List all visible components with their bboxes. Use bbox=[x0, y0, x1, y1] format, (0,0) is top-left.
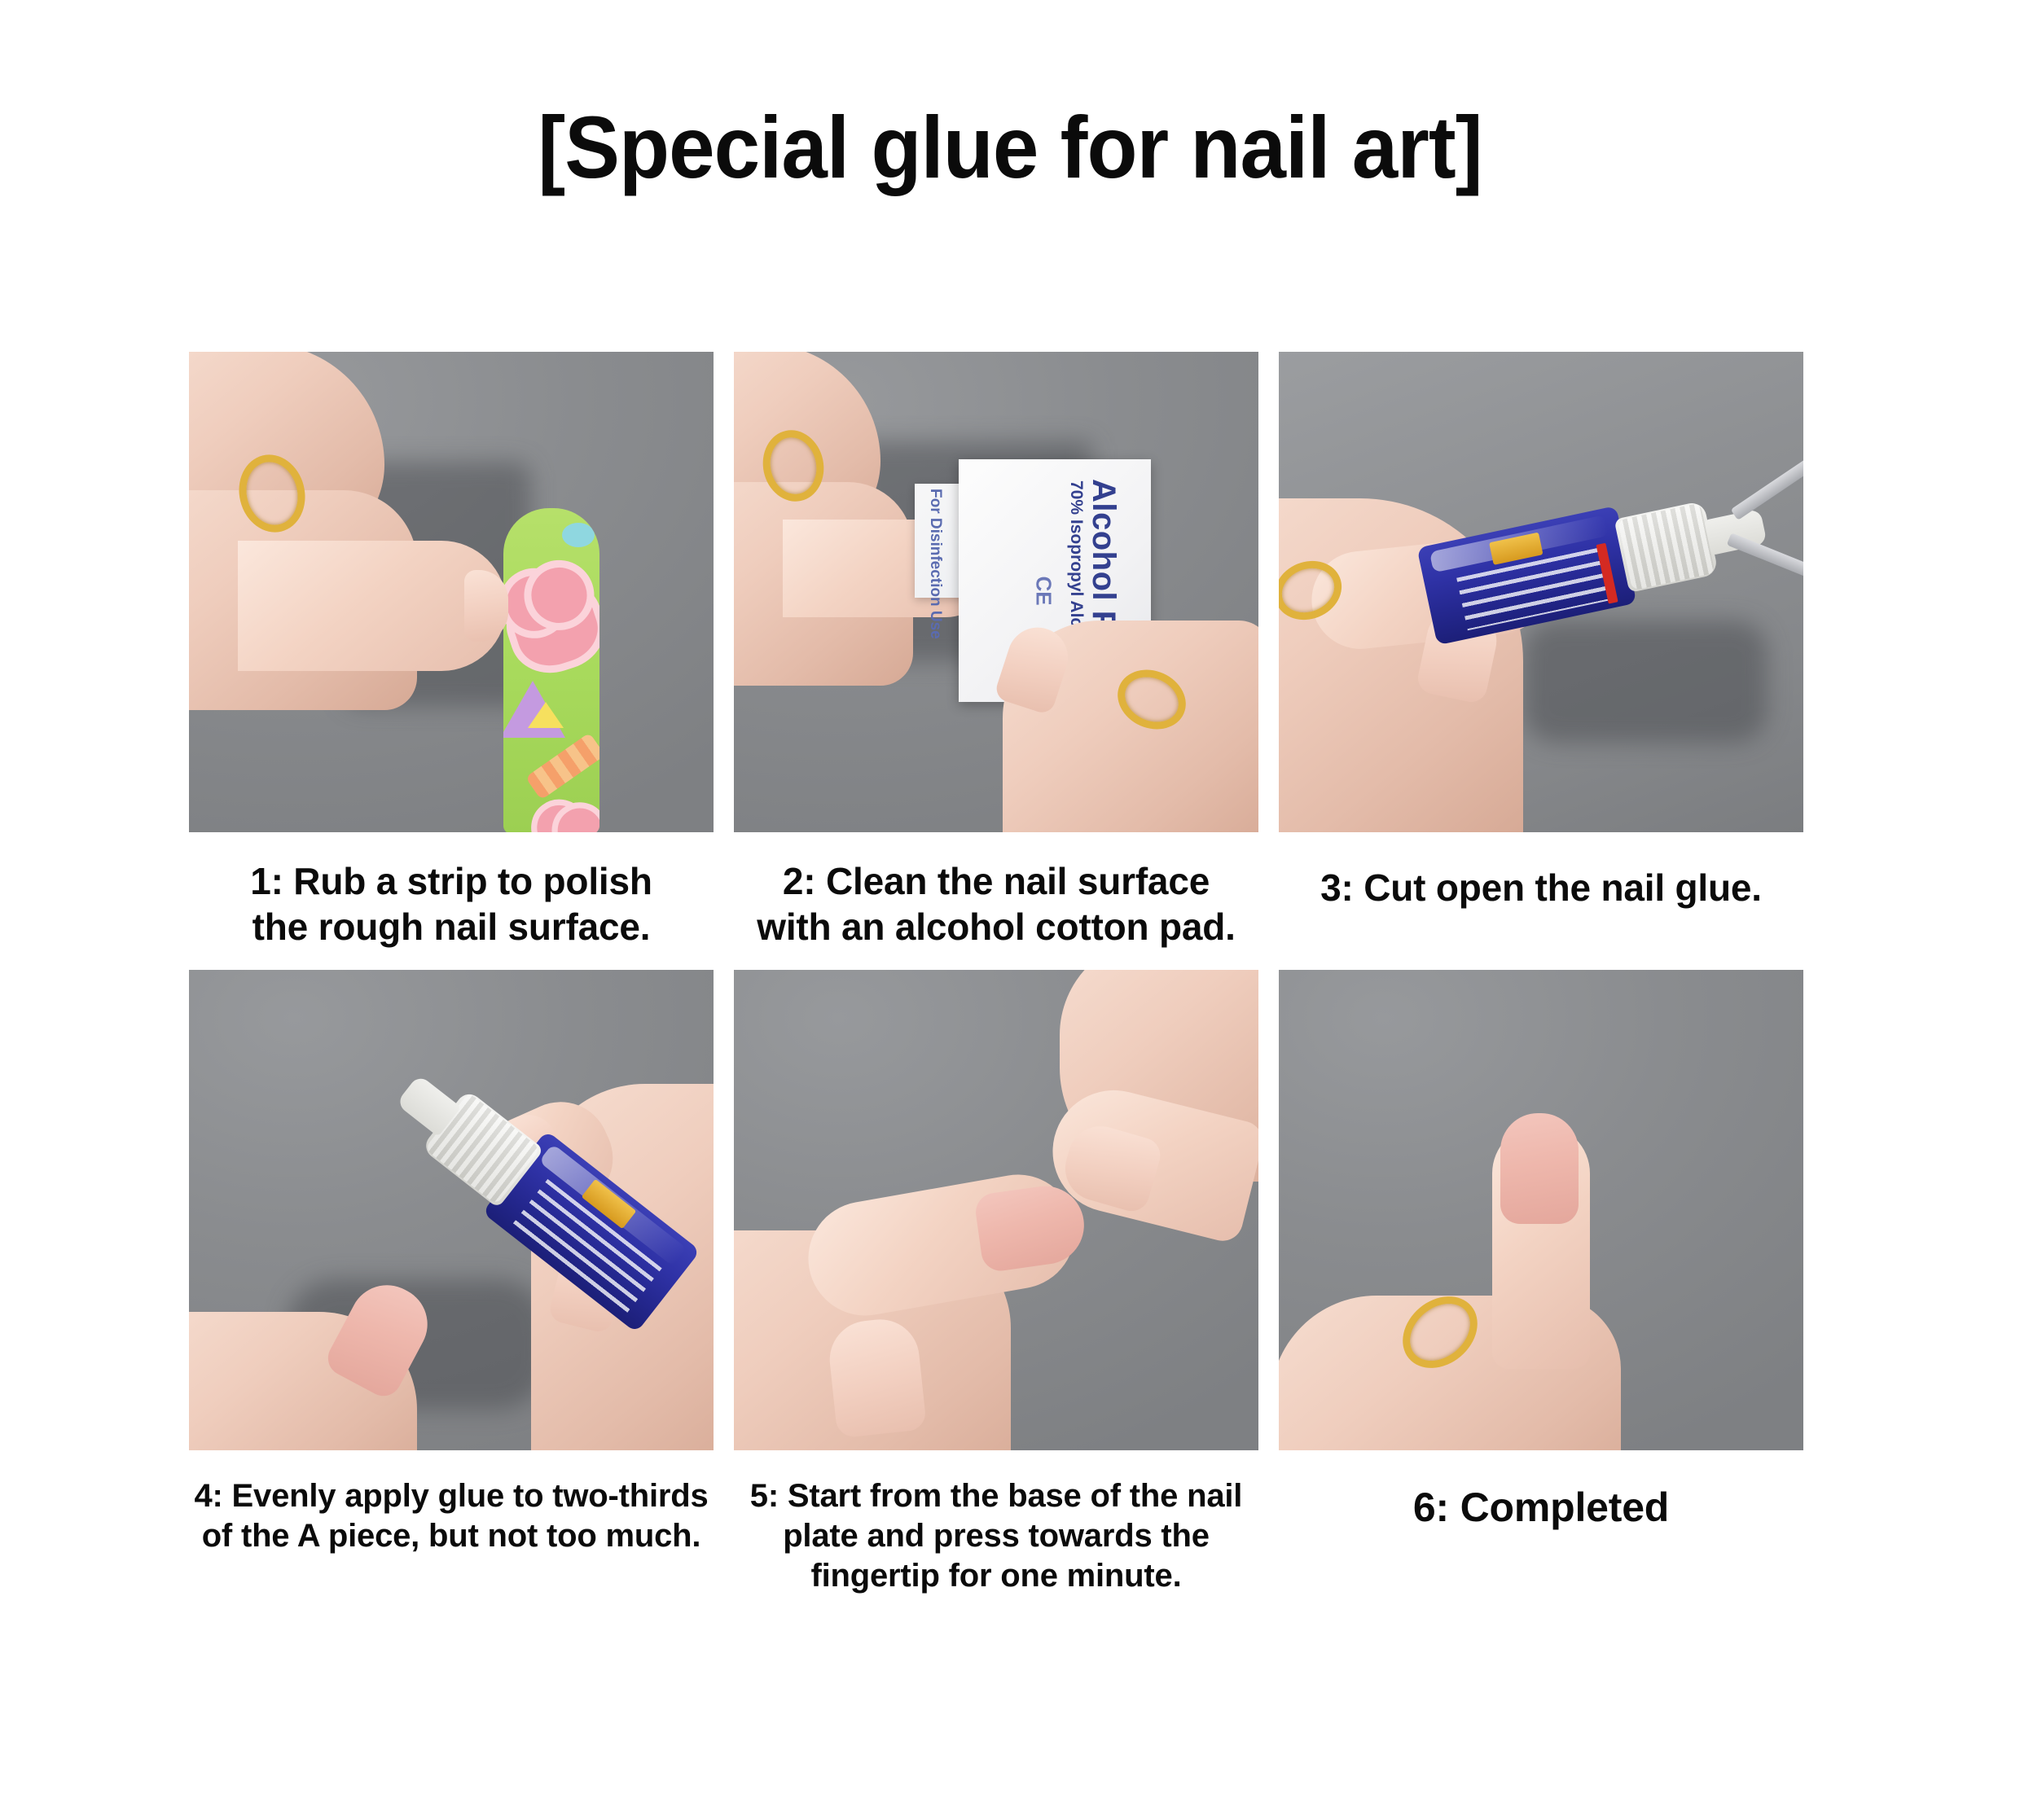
step-1: 1: Rub a strip to polish the rough nail … bbox=[189, 352, 714, 949]
step-5: 5: Start from the base of the nail plate… bbox=[734, 970, 1258, 1595]
pad-usage-text: For Disinfection Use bbox=[926, 489, 944, 639]
step-3: 3: Cut open the nail glue. bbox=[1279, 352, 1803, 910]
caption-line-2: the rough nail surface. bbox=[182, 904, 720, 949]
step-3-caption: 3: Cut open the nail glue. bbox=[1272, 865, 1810, 910]
step-6-caption: 6: Completed bbox=[1272, 1483, 1810, 1533]
step-4-caption: 4: Evenly apply glue to two-thirds of th… bbox=[182, 1476, 720, 1556]
heart-decoration-2 bbox=[523, 814, 599, 832]
step-1-photo bbox=[189, 352, 714, 832]
step-5-caption: 5: Start from the base of the nail plate… bbox=[727, 1476, 1265, 1595]
caption-line-2: with an alcohol cotton pad. bbox=[727, 904, 1265, 949]
step-4: 4: Evenly apply glue to two-thirds of th… bbox=[189, 970, 714, 1556]
step-3-photo bbox=[1279, 352, 1803, 832]
heart-decoration bbox=[503, 573, 599, 683]
caption-line-2: plate and press towards the bbox=[727, 1516, 1265, 1556]
step-1-caption: 1: Rub a strip to polish the rough nail … bbox=[182, 858, 720, 949]
step-4-photo bbox=[189, 970, 714, 1450]
caption-line-2: of the A piece, but not too much. bbox=[182, 1516, 720, 1556]
steps-row-1: 1: Rub a strip to polish the rough nail … bbox=[189, 352, 1803, 949]
step-6: 6: Completed bbox=[1279, 970, 1803, 1533]
step-2-caption: 2: Clean the nail surface with an alcoho… bbox=[727, 858, 1265, 949]
steps-row-2: 4: Evenly apply glue to two-thirds of th… bbox=[189, 970, 1803, 1595]
caption-line-1: 5: Start from the base of the nail bbox=[727, 1476, 1265, 1516]
step-2: Alcohol Pad 70% Isopropyl Alcohol CE For… bbox=[734, 352, 1258, 949]
steps-grid: 1: Rub a strip to polish the rough nail … bbox=[189, 352, 1803, 1596]
caption-line-3: fingertip for one minute. bbox=[727, 1556, 1265, 1596]
cast-shadow bbox=[1523, 621, 1768, 743]
step-2-photo: Alcohol Pad 70% Isopropyl Alcohol CE For… bbox=[734, 352, 1258, 832]
ce-mark-icon: CE bbox=[1031, 576, 1056, 605]
caption-line-1: 2: Clean the nail surface bbox=[727, 858, 1265, 904]
caption-line-1: 1: Rub a strip to polish bbox=[182, 858, 720, 904]
nail-file bbox=[503, 508, 599, 832]
step-5-photo bbox=[734, 970, 1258, 1450]
caption-line-1: 6: Completed bbox=[1272, 1483, 1810, 1533]
star-decoration bbox=[528, 702, 564, 728]
step-6-photo bbox=[1279, 970, 1803, 1450]
stripe-decoration bbox=[525, 733, 599, 800]
dot-decoration bbox=[562, 523, 595, 547]
instruction-page: [Special glue for nail art] bbox=[0, 0, 2020, 1820]
caption-line-1: 3: Cut open the nail glue. bbox=[1272, 865, 1810, 910]
caption-line-1: 4: Evenly apply glue to two-thirds bbox=[182, 1476, 720, 1516]
finished-nail bbox=[1500, 1113, 1579, 1224]
page-title: [Special glue for nail art] bbox=[60, 96, 1959, 198]
